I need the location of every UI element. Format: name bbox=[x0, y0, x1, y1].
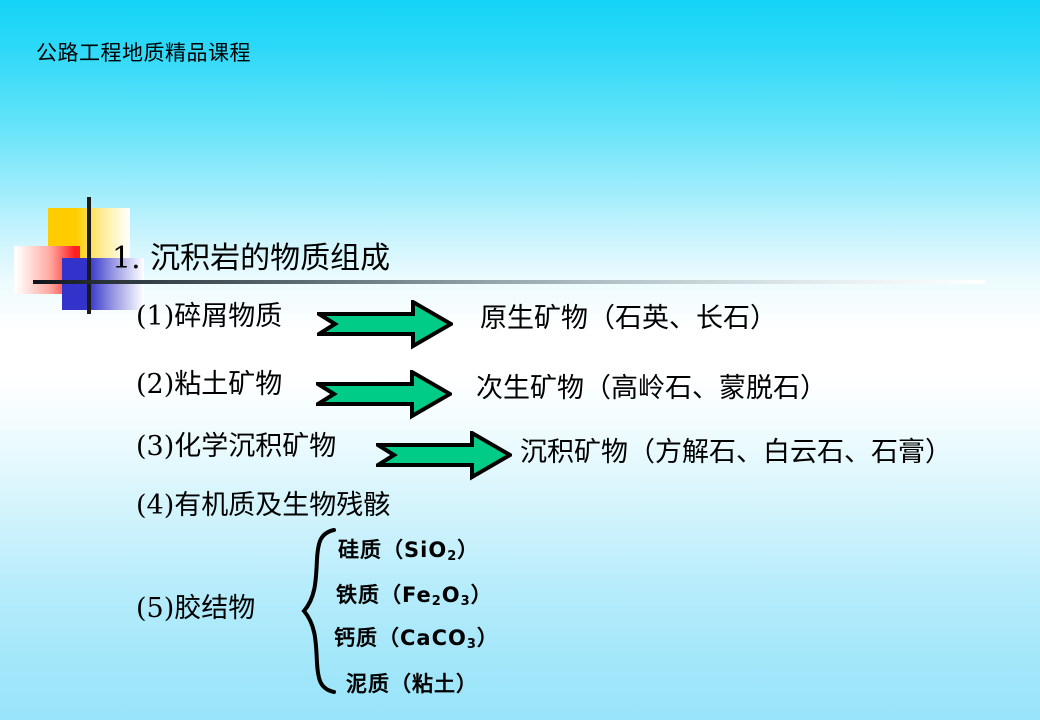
content-row-3: (3)化学沉积矿物 沉积矿物（方解石、白云石、石膏） bbox=[136, 433, 336, 460]
row-1-label: (1)碎屑物质 bbox=[136, 301, 282, 332]
row-5-label: (5)胶结物 bbox=[136, 593, 255, 624]
cement-item-calcium-close: ） bbox=[477, 626, 499, 650]
cement-item-iron-sub2: 3 bbox=[461, 594, 471, 609]
cement-item-iron-close: ） bbox=[471, 583, 493, 607]
left-curly-brace-icon bbox=[290, 527, 340, 695]
row-3-label: (3)化学沉积矿物 bbox=[136, 431, 336, 462]
cement-item-silica-name: 硅质（ bbox=[338, 538, 404, 562]
cement-item-iron-sub: 2 bbox=[432, 594, 442, 609]
row-3-target: 沉积矿物（方解石、白云石、石膏） bbox=[520, 439, 952, 466]
decorative-logo bbox=[0, 95, 1000, 225]
cement-item-mud-close: ） bbox=[456, 672, 478, 696]
cement-item-iron-formula2: O bbox=[442, 583, 461, 607]
cement-item-silica: 硅质（SiO2） bbox=[338, 534, 479, 564]
cement-item-calcium-formula: CaCO bbox=[400, 626, 467, 650]
cement-item-calcium-sub: 3 bbox=[467, 637, 477, 652]
row-1-target: 原生矿物（石英、长石） bbox=[480, 305, 777, 332]
cement-item-silica-close: ） bbox=[457, 538, 479, 562]
content-row-2: (2)粘土矿物 次生矿物（高岭石、蒙脱石） bbox=[136, 371, 282, 398]
content-row-4: (4)有机质及生物残骸 bbox=[136, 492, 390, 519]
cement-item-mud-formula: 粘土 bbox=[412, 672, 456, 696]
right-arrow-icon bbox=[376, 431, 512, 481]
cement-item-silica-formula: SiO bbox=[404, 538, 447, 562]
cement-item-mud: 泥质（粘土） bbox=[346, 668, 478, 698]
right-arrow-icon bbox=[316, 370, 452, 420]
row-2-target: 次生矿物（高岭石、蒙脱石） bbox=[476, 375, 827, 402]
cement-item-mud-name: 泥质（ bbox=[346, 672, 412, 696]
cement-item-calcium: 钙质（CaCO3） bbox=[334, 622, 499, 652]
horizontal-rule bbox=[33, 280, 985, 284]
cement-item-silica-sub: 2 bbox=[447, 549, 457, 564]
content-row-5: (5)胶结物 bbox=[136, 595, 255, 622]
row-4-label: (4)有机质及生物残骸 bbox=[136, 490, 390, 521]
cement-item-iron: 铁质（Fe2O3） bbox=[336, 579, 493, 609]
slide-canvas: 公路工程地质精品课程 1. 沉积岩的物质组成 (1)碎屑物质 原生矿物（石英、长… bbox=[0, 0, 1040, 720]
cement-item-calcium-name: 钙质（ bbox=[334, 626, 400, 650]
content-row-1: (1)碎屑物质 原生矿物（石英、长石） bbox=[136, 303, 282, 330]
cement-item-iron-formula: Fe bbox=[402, 583, 432, 607]
right-arrow-icon bbox=[317, 300, 453, 350]
vertical-rule bbox=[87, 197, 91, 314]
row-2-label: (2)粘土矿物 bbox=[136, 369, 282, 400]
page-title: 公路工程地质精品课程 bbox=[36, 37, 251, 67]
section-heading: 1. 沉积岩的物质组成 bbox=[112, 233, 390, 277]
cement-item-iron-name: 铁质（ bbox=[336, 583, 402, 607]
